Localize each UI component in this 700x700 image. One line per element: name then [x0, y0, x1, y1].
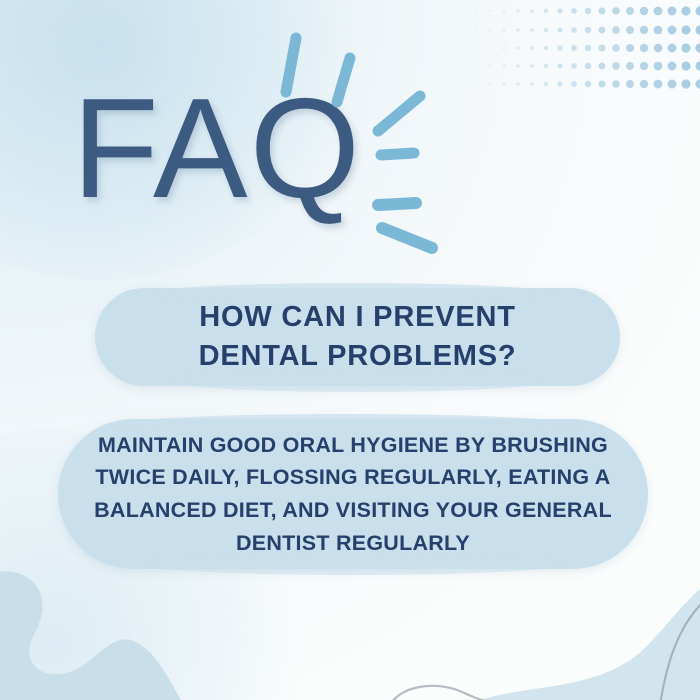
faq-answer-line-1: MAINTAIN GOOD ORAL HYGIENE BY BRUSHING [98, 433, 608, 457]
faq-headline-block: FAQ [0, 0, 700, 285]
radiating-lines-icon [0, 0, 700, 285]
organic-blob-icon-left [0, 560, 240, 700]
faq-poster: FAQ HOW CAN I PREVENT DENTAL PROBLEMS? M… [0, 0, 700, 700]
thin-arc-line-icon [330, 600, 700, 700]
faq-answer-pill[interactable]: MAINTAIN GOOD ORAL HYGIENE BY BRUSHING T… [58, 419, 648, 569]
faq-question-line-2: DENTAL PROBLEMS? [199, 340, 517, 372]
faq-question-text: HOW CAN I PREVENT DENTAL PROBLEMS? [173, 298, 543, 377]
faq-answer-line-3: BALANCED DIET, AND VISITING YOUR GENERAL [94, 498, 612, 522]
organic-blob-icon-right [470, 585, 700, 700]
faq-answer-line-2: TWICE DAILY, FLOSSING REGULARLY, EATING … [95, 465, 610, 489]
faq-answer-line-4: DENTIST REGULARLY [236, 531, 470, 555]
faq-question-line-1: HOW CAN I PREVENT [199, 301, 516, 333]
faq-answer-text: MAINTAIN GOOD ORAL HYGIENE BY BRUSHING T… [68, 429, 638, 560]
faq-question-pill[interactable]: HOW CAN I PREVENT DENTAL PROBLEMS? [95, 288, 620, 386]
